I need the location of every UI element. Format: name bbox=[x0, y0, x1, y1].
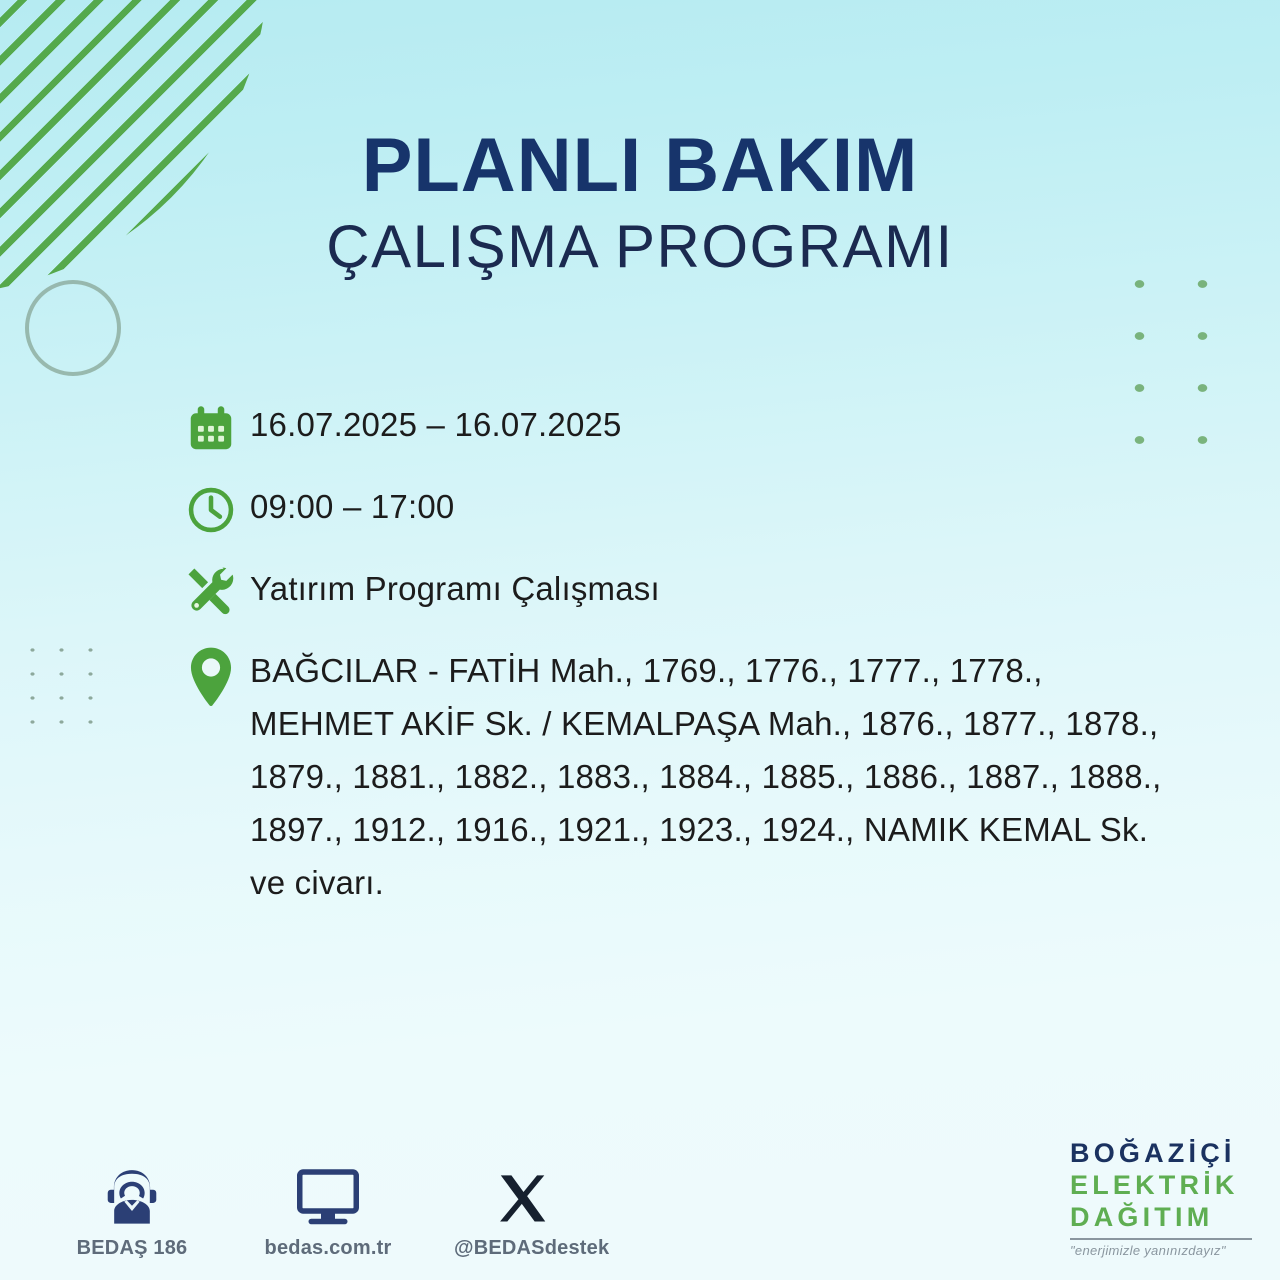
detail-row-work-type: Yatırım Programı Çalışması bbox=[172, 562, 1202, 624]
brand-line-1: BOĞAZİÇİ bbox=[1070, 1137, 1252, 1169]
contact-phone[interactable]: BEDAŞ 186 bbox=[62, 1154, 202, 1260]
circle-outline-decoration bbox=[25, 280, 121, 376]
contact-social-label: @BEDASdestek bbox=[454, 1237, 594, 1260]
brand-divider bbox=[1070, 1238, 1252, 1240]
detail-row-date: 16.07.2025 – 16.07.2025 bbox=[172, 398, 1202, 460]
support-agent-icon bbox=[62, 1154, 202, 1228]
calendar-icon bbox=[172, 398, 250, 460]
company-logo: BOĞAZİÇİ ELEKTRİK DAĞITIM "enerjimizle y… bbox=[1070, 1137, 1252, 1258]
dot-grid-left-decoration bbox=[18, 638, 110, 734]
title-secondary: ÇALIŞMA PROGRAMI bbox=[0, 214, 1280, 280]
contact-channels: BEDAŞ 186 bedas.com.tr bbox=[62, 1154, 594, 1260]
contact-website[interactable]: bedas.com.tr bbox=[258, 1154, 398, 1260]
location-text: BAĞCILAR - FATİH Mah., 1769., 1776., 177… bbox=[250, 642, 1180, 909]
monitor-icon bbox=[258, 1154, 398, 1228]
detail-row-time: 09:00 – 17:00 bbox=[172, 480, 1202, 542]
contact-social[interactable]: @BEDASdestek bbox=[454, 1154, 594, 1260]
work-type-text: Yatırım Programı Çalışması bbox=[250, 562, 660, 614]
planned-maintenance-poster: PLANLI BAKIM ÇALIŞMA PROGRAMI 16.07.2025… bbox=[0, 0, 1280, 1280]
brand-line-3: DAĞITIM bbox=[1070, 1201, 1252, 1233]
x-twitter-icon bbox=[454, 1154, 594, 1228]
tools-icon bbox=[172, 562, 250, 624]
detail-row-location: BAĞCILAR - FATİH Mah., 1769., 1776., 177… bbox=[172, 642, 1202, 909]
page-title: PLANLI BAKIM ÇALIŞMA PROGRAMI bbox=[0, 124, 1280, 280]
brand-line-2: ELEKTRİK bbox=[1070, 1169, 1252, 1201]
contact-phone-label: BEDAŞ 186 bbox=[62, 1237, 202, 1260]
maintenance-details: 16.07.2025 – 16.07.2025 09:00 – 17:00 bbox=[172, 398, 1202, 909]
time-range-text: 09:00 – 17:00 bbox=[250, 480, 454, 532]
footer: BEDAŞ 186 bedas.com.tr bbox=[0, 1090, 1280, 1280]
contact-website-label: bedas.com.tr bbox=[258, 1237, 398, 1260]
map-pin-icon bbox=[172, 642, 250, 704]
clock-icon bbox=[172, 480, 250, 542]
title-primary: PLANLI BAKIM bbox=[0, 124, 1280, 208]
date-range-text: 16.07.2025 – 16.07.2025 bbox=[250, 398, 622, 450]
brand-tagline: "enerjimizle yanınızdayız" bbox=[1070, 1243, 1252, 1258]
